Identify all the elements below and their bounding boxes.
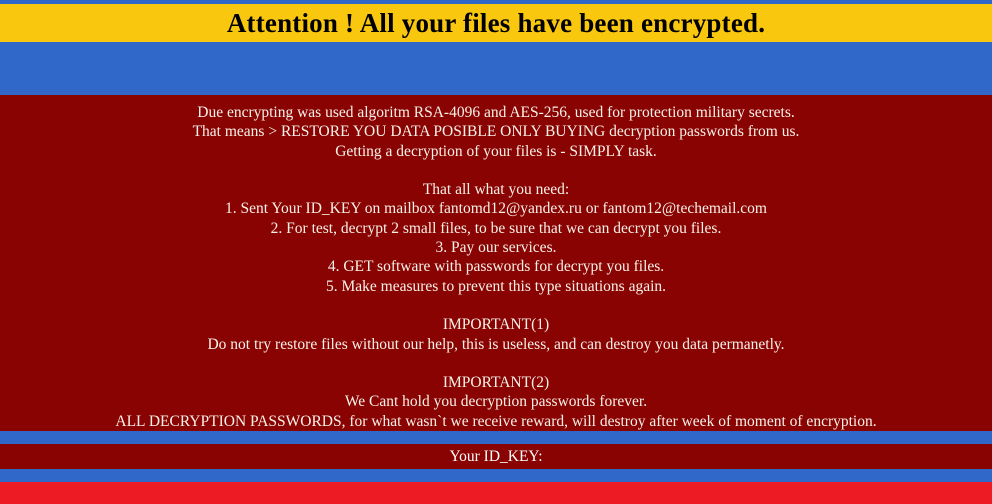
paragraph-gap xyxy=(0,296,992,315)
message-line: 3. Pay our services. xyxy=(0,238,992,257)
paragraph-gap xyxy=(0,354,992,373)
blue-divider-below-idkey xyxy=(0,469,992,482)
message-line: ALL DECRYPTION PASSWORDS, for what wasn`… xyxy=(0,412,992,431)
title-banner: Attention ! All your files have been enc… xyxy=(0,4,992,42)
message-line: That all what you need: xyxy=(0,180,992,199)
blue-divider-above-idkey xyxy=(0,431,992,444)
message-text-block: Due encrypting was used algoritm RSA-409… xyxy=(0,103,992,431)
paragraph-gap xyxy=(0,161,992,180)
ransomware-notice-screen: Attention ! All your files have been enc… xyxy=(0,0,992,504)
message-line: 2. For test, decrypt 2 small files, to b… xyxy=(0,219,992,238)
page-title: Attention ! All your files have been enc… xyxy=(227,10,765,37)
id-key-label: Your ID_KEY: xyxy=(449,449,542,465)
message-line: 5. Make measures to prevent this type si… xyxy=(0,277,992,296)
message-line: IMPORTANT(1) xyxy=(0,315,992,334)
message-line: We Cant hold you decryption passwords fo… xyxy=(0,392,992,411)
message-line: IMPORTANT(2) xyxy=(0,373,992,392)
message-line: Getting a decryption of your files is - … xyxy=(0,142,992,161)
upper-blue-divider xyxy=(0,42,992,95)
id-key-bar: Your ID_KEY: xyxy=(0,444,992,469)
message-line: Do not try restore files without our hel… xyxy=(0,335,992,354)
bright-red-bar xyxy=(0,482,992,504)
message-line: Due encrypting was used algoritm RSA-409… xyxy=(0,103,992,122)
message-line: 4. GET software with passwords for decry… xyxy=(0,257,992,276)
message-line: 1. Sent Your ID_KEY on mailbox fantomd12… xyxy=(0,199,992,218)
message-line: That means > RESTORE YOU DATA POSIBLE ON… xyxy=(0,122,992,141)
message-body: Due encrypting was used algoritm RSA-409… xyxy=(0,95,992,431)
